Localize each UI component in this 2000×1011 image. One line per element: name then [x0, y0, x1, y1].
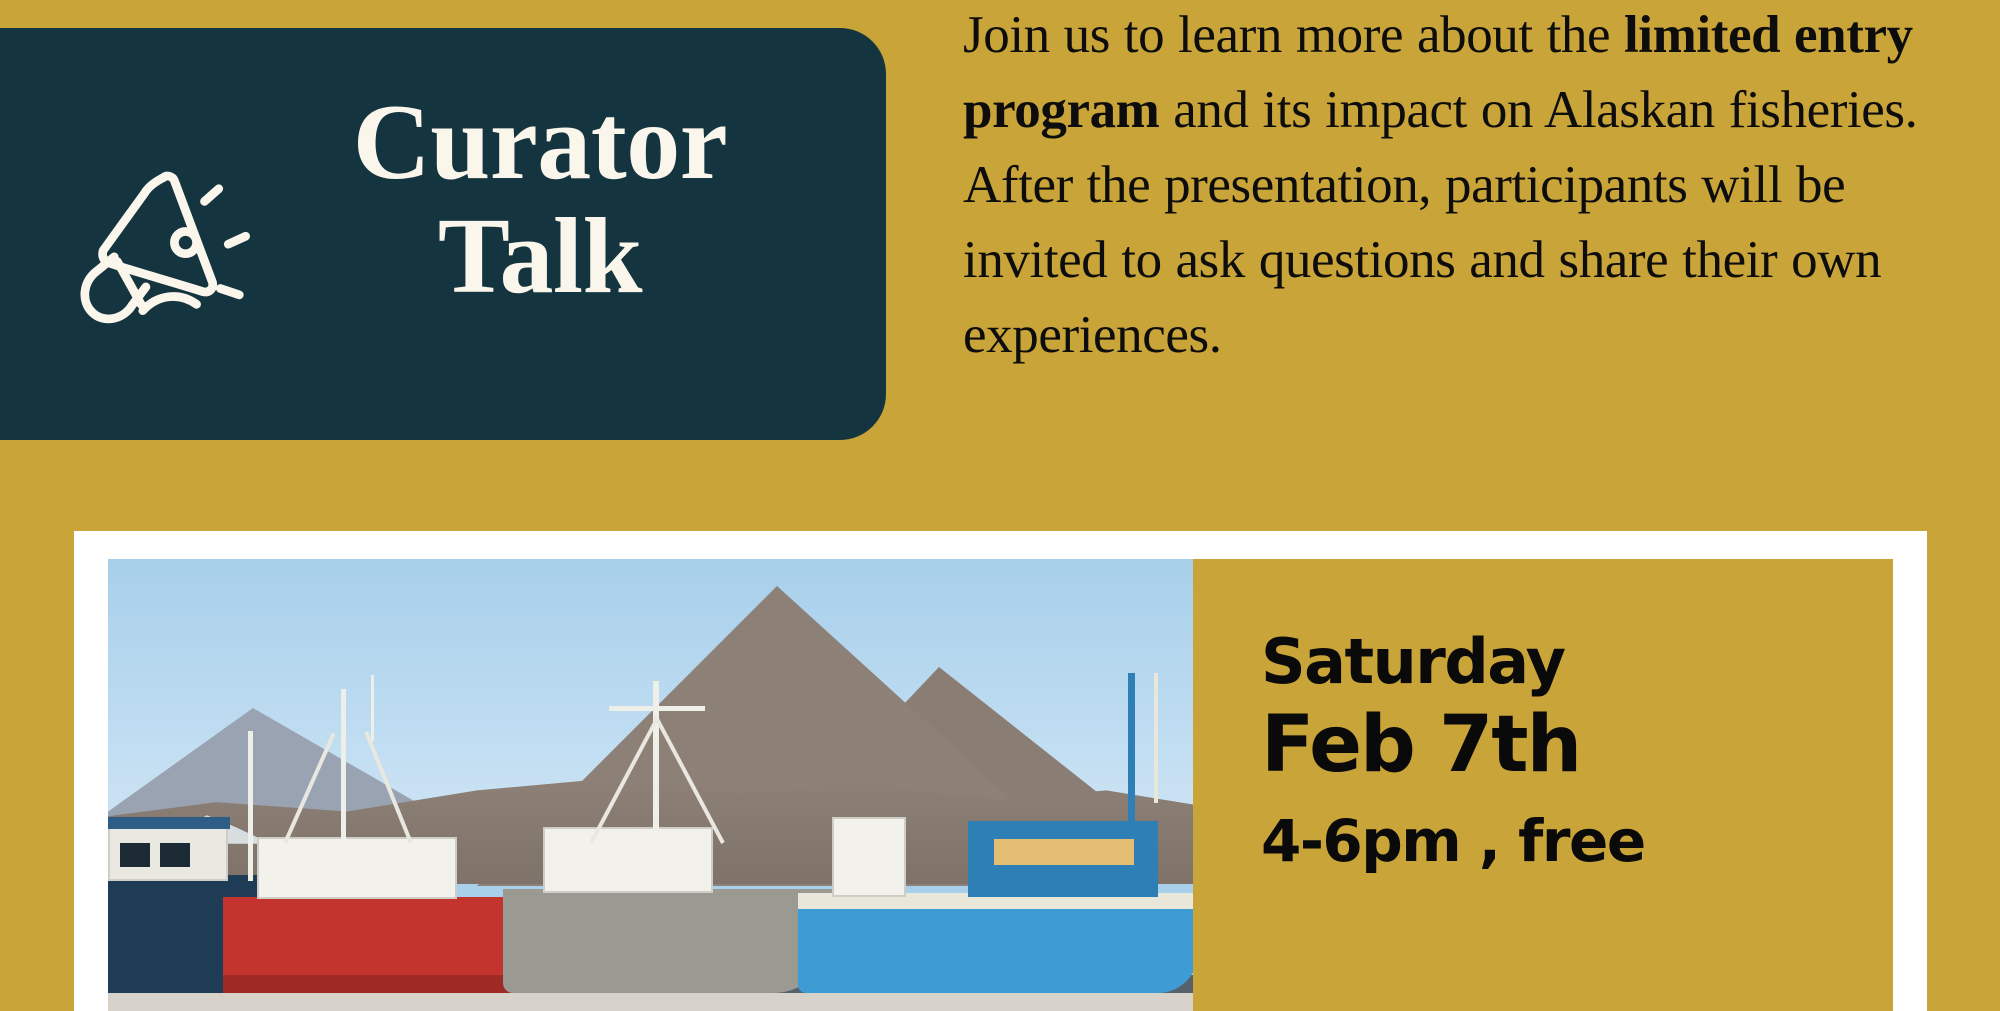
boat-blue-hull [798, 897, 1193, 993]
boat-grey-boom-left [589, 718, 658, 843]
boat-navy-cabin-roof [108, 817, 230, 829]
boat-grey-boom-right [656, 718, 725, 843]
curator-talk-header-panel: Curator Talk [0, 28, 886, 440]
boat-grey-trawler [503, 673, 833, 993]
boat-blue-forward-cabin [832, 817, 906, 897]
page-title-line-2: Talk [220, 200, 860, 314]
event-date: Feb 7th [1261, 699, 1893, 791]
event-description: Join us to learn more about the limited … [963, 0, 1973, 373]
page-title: Curator Talk [220, 86, 860, 315]
boat-red-mast [341, 689, 346, 839]
event-day: Saturday [1261, 625, 1893, 699]
description-segment-1: Join us to learn more about the [963, 6, 1624, 64]
boat-navy-window-2 [160, 843, 190, 867]
boat-grey-mast [653, 681, 659, 831]
boat-red-wheelhouse [257, 837, 457, 899]
boat-blue-mast [1128, 673, 1135, 823]
boat-blue-wheelhouse-window [994, 839, 1134, 865]
boat-grey-crosstree [609, 706, 705, 711]
boat-blue-antenna [1154, 673, 1158, 803]
boat-red-boom-2 [364, 731, 413, 844]
media-frame: Saturday Feb 7th 4-6pm , free [74, 531, 1927, 1011]
media-inner: Saturday Feb 7th 4-6pm , free [108, 559, 1893, 1011]
event-time-price: 4-6pm , free [1261, 805, 1893, 877]
boat-grey-hull [503, 889, 833, 993]
event-date-panel: Saturday Feb 7th 4-6pm , free [1193, 559, 1893, 1011]
boat-red-boom-1 [283, 732, 335, 843]
boat-red-antenna [371, 675, 374, 741]
boat-blue-tender [798, 663, 1193, 993]
photo-dock [108, 993, 1193, 1011]
page-title-line-1: Curator [353, 83, 727, 202]
harbor-photo [108, 559, 1193, 1011]
boat-navy-window [120, 843, 150, 867]
boat-grey-wheelhouse [543, 827, 713, 893]
